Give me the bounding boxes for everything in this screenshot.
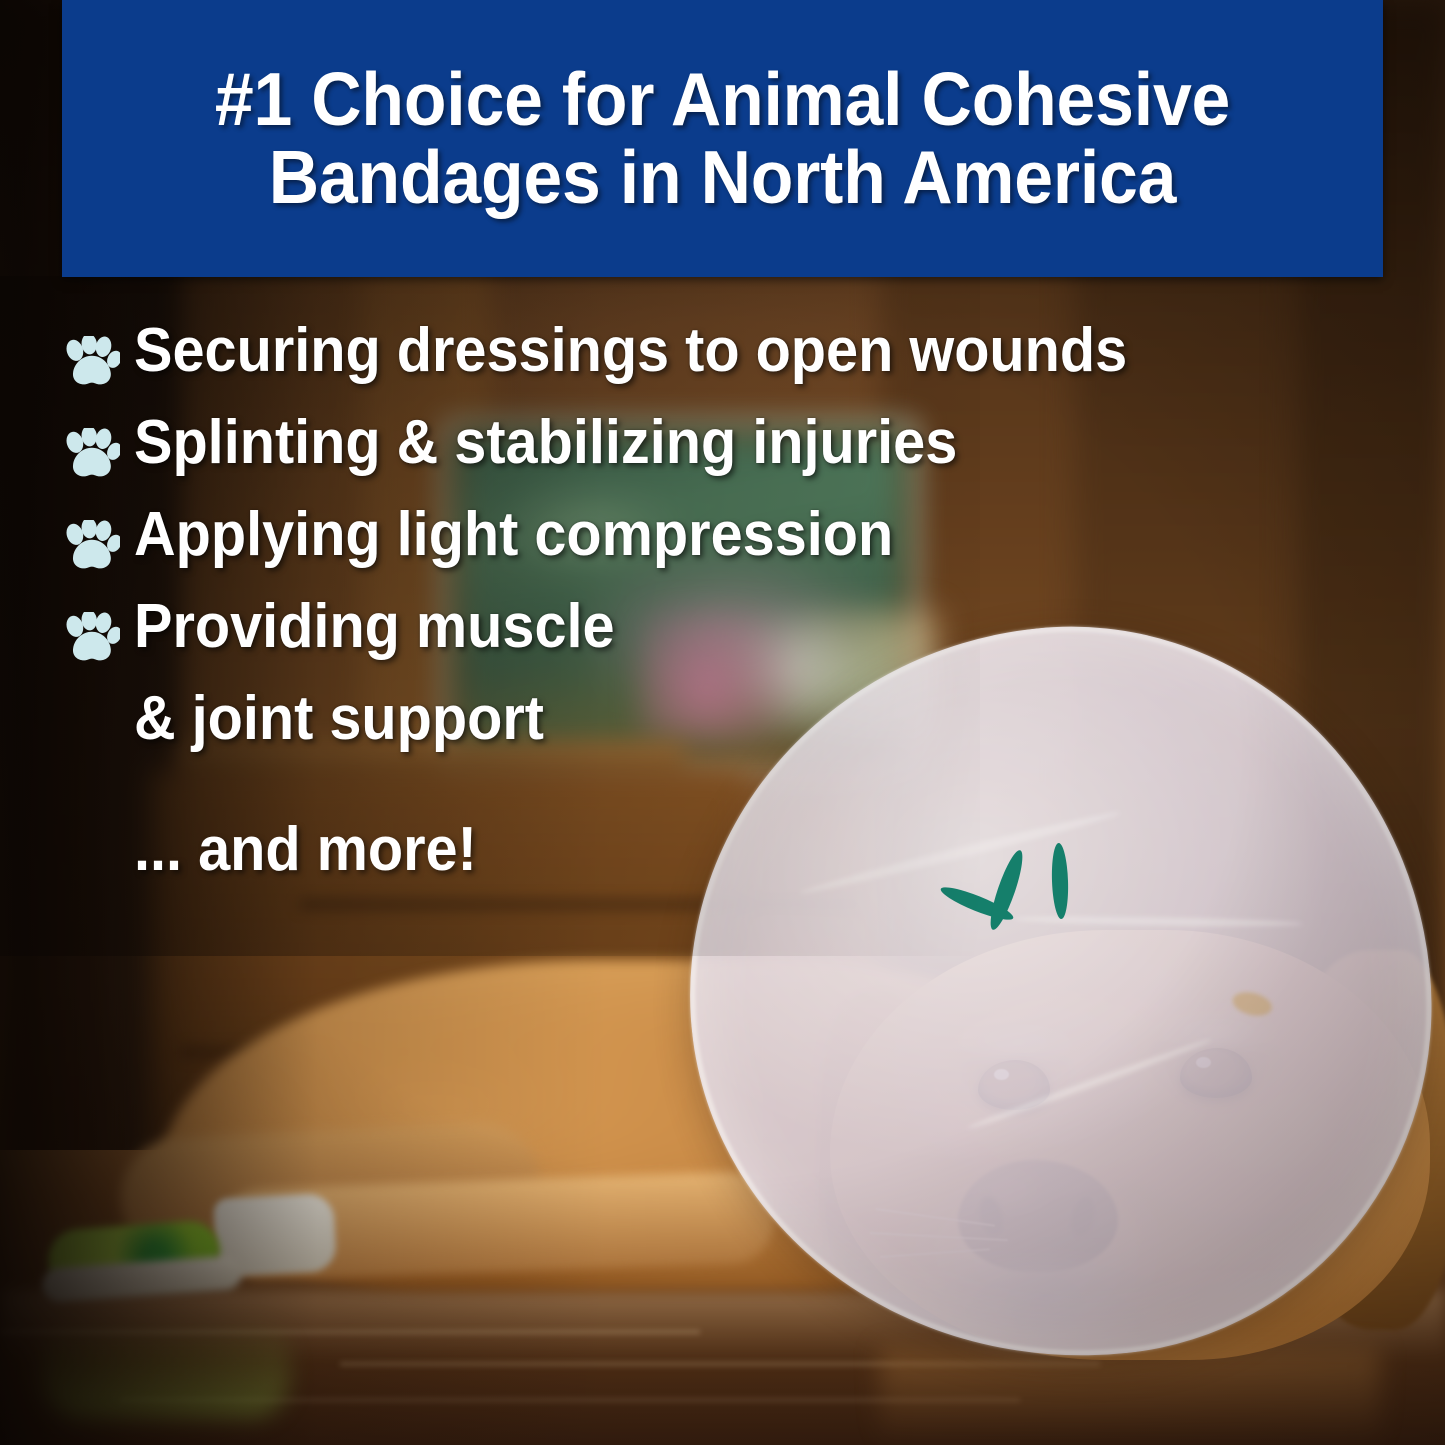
list-item-label-continued: & joint support: [134, 686, 1332, 752]
paw-print-icon: [62, 336, 120, 388]
paw-print-icon: [62, 520, 120, 572]
promotional-image: #1 Choice for Animal Cohesive Bandages i…: [0, 0, 1445, 1445]
paw-print-icon: [62, 428, 120, 480]
and-more-label: ... and more!: [134, 814, 1332, 885]
paw-print-icon: [62, 612, 120, 664]
list-item-label: Providing muscle: [134, 594, 615, 660]
list-item: Applying light compression: [62, 502, 1422, 572]
list-item: Providing muscle: [62, 594, 1422, 664]
list-item-label: Securing dressings to open wounds: [134, 318, 1127, 384]
list-item-label: Splinting & stabilizing injuries: [134, 410, 957, 476]
headline-text: #1 Choice for Animal Cohesive Bandages i…: [108, 61, 1337, 216]
list-item: Securing dressings to open wounds: [62, 318, 1422, 388]
headline-banner: #1 Choice for Animal Cohesive Bandages i…: [62, 0, 1383, 277]
list-item: Splinting & stabilizing injuries: [62, 410, 1422, 480]
list-item-label: Applying light compression: [134, 502, 893, 568]
benefits-list: Securing dressings to open wounds Splint…: [62, 318, 1422, 885]
head-reflection: [880, 1348, 1380, 1445]
paw-reflection: [40, 1318, 290, 1418]
